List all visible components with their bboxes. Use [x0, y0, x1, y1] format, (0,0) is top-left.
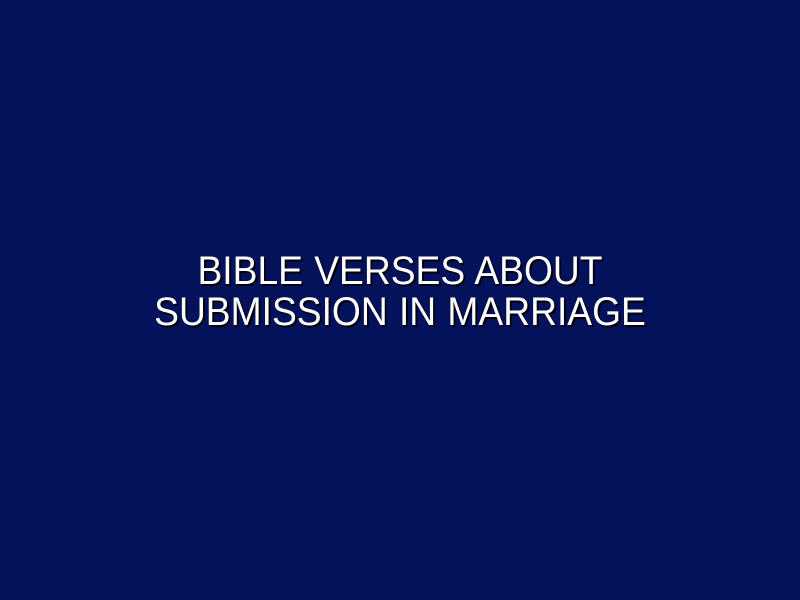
title-block: BIBLE VERSES ABOUT SUBMISSION IN MARRIAG…: [80, 251, 720, 333]
title-slide: BIBLE VERSES ABOUT SUBMISSION IN MARRIAG…: [0, 0, 800, 600]
page-title: BIBLE VERSES ABOUT SUBMISSION IN MARRIAG…: [102, 251, 697, 333]
